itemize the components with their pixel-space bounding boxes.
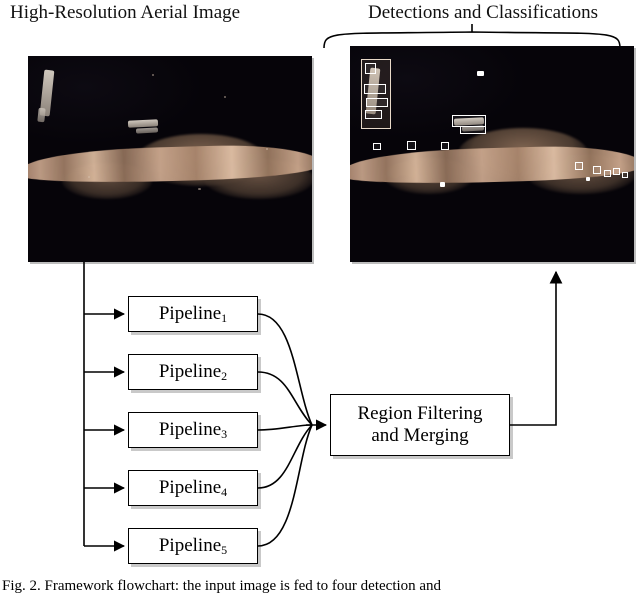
ship-small bbox=[37, 108, 45, 123]
aerial-image-detections bbox=[350, 46, 634, 262]
detection-box bbox=[593, 166, 601, 174]
figure-caption: Fig. 2. Framework flowchart: the input i… bbox=[2, 578, 638, 595]
detection-box bbox=[613, 168, 620, 175]
curly-brace bbox=[322, 22, 634, 48]
node-pipeline-2[interactable]: Pipeline2 bbox=[128, 354, 258, 390]
merge-line-1: Region Filtering bbox=[357, 403, 482, 425]
node-subscript: 2 bbox=[221, 369, 227, 384]
detection-point bbox=[477, 71, 484, 76]
detection-point bbox=[440, 182, 445, 187]
detection-point bbox=[586, 177, 590, 181]
node-subscript: 5 bbox=[221, 543, 227, 558]
node-label: Pipeline bbox=[159, 477, 221, 499]
speck bbox=[224, 96, 226, 98]
detection-box bbox=[460, 126, 486, 134]
node-subscript: 3 bbox=[221, 427, 227, 442]
speck bbox=[152, 74, 154, 76]
detection-box bbox=[575, 162, 583, 170]
detection-box bbox=[365, 63, 376, 74]
aerial-image-input bbox=[28, 56, 312, 262]
detection-box bbox=[407, 141, 416, 150]
node-region-filtering-and-merging[interactable]: Region Filtering and Merging bbox=[330, 394, 510, 456]
detection-box bbox=[366, 98, 388, 107]
node-label: Pipeline bbox=[159, 303, 221, 325]
header-left: High-Resolution Aerial Image bbox=[10, 2, 240, 24]
node-subscript: 1 bbox=[221, 311, 227, 326]
node-pipeline-3[interactable]: Pipeline3 bbox=[128, 412, 258, 448]
detection-box bbox=[373, 143, 381, 150]
node-label: Pipeline bbox=[159, 419, 221, 441]
detection-box bbox=[364, 84, 386, 94]
speck bbox=[88, 176, 90, 178]
figure-container: High-Resolution Aerial Image Detections … bbox=[0, 0, 640, 603]
header-right: Detections and Classifications bbox=[368, 2, 598, 24]
node-label: Pipeline bbox=[159, 535, 221, 557]
speck bbox=[266, 148, 268, 150]
node-pipeline-1[interactable]: Pipeline1 bbox=[128, 296, 258, 332]
detection-box bbox=[622, 172, 628, 178]
detection-box bbox=[441, 142, 449, 150]
detection-box bbox=[604, 170, 611, 177]
speck bbox=[198, 188, 201, 190]
merge-line-2: and Merging bbox=[371, 425, 468, 447]
node-pipeline-4[interactable]: Pipeline4 bbox=[128, 470, 258, 506]
detection-box bbox=[365, 110, 382, 119]
node-pipeline-5[interactable]: Pipeline5 bbox=[128, 528, 258, 564]
node-label: Pipeline bbox=[159, 361, 221, 383]
node-subscript: 4 bbox=[221, 485, 227, 500]
